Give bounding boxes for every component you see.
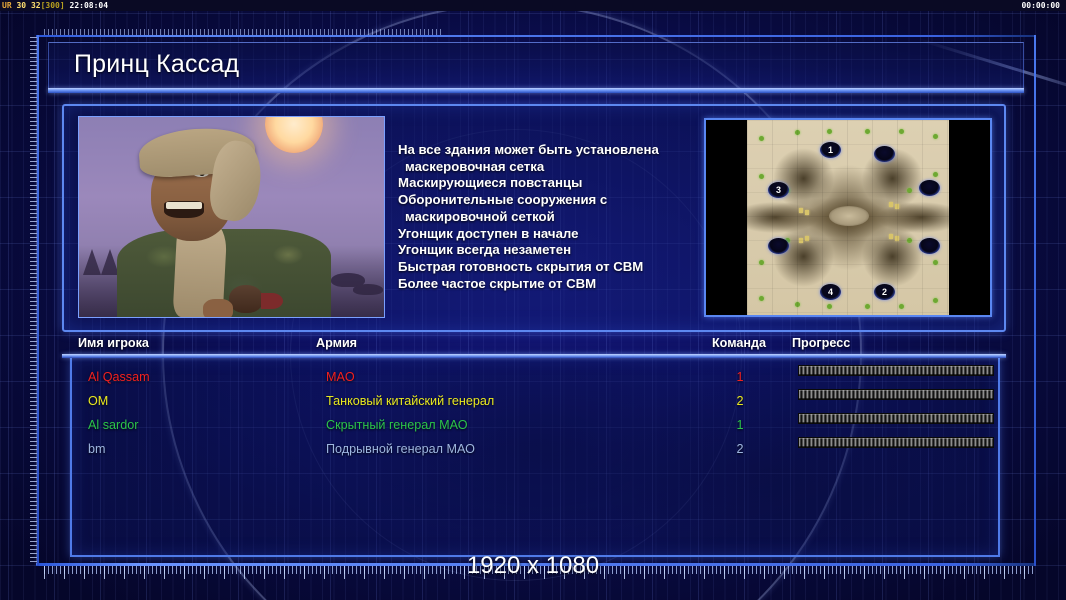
general-description: На все здания может быть установленамаск…	[398, 142, 698, 292]
player-progress	[798, 389, 994, 400]
minimap-supply-dock	[759, 260, 764, 265]
player-progress	[798, 413, 994, 424]
frame-value: 32	[31, 1, 41, 10]
minimap-supply-dock	[827, 304, 832, 309]
player-row[interactable]: Al QassamMAO1	[72, 365, 1002, 389]
description-line: Оборонительные сооружения с	[398, 192, 698, 209]
resolution-label: 1920 x 1080	[0, 552, 1066, 580]
minimap-center-feature	[829, 206, 869, 226]
player-row[interactable]: Al sardorСкрытный генерал МАО1	[72, 413, 1002, 437]
player-team: 2	[733, 389, 747, 413]
minimap-start-position-label: 2	[882, 288, 887, 297]
player-team: 1	[733, 365, 747, 389]
player-army: Подрывной генерал МАО	[326, 437, 475, 461]
minimap[interactable]: 1342	[704, 118, 992, 317]
player-army: MAO	[326, 365, 355, 389]
description-line: Быстрая готовность скрытия от СВМ	[398, 259, 698, 276]
player-team: 2	[733, 437, 747, 461]
minimap-start-position[interactable]	[919, 238, 940, 254]
description-line: Маскирующиеся повстанцы	[398, 175, 698, 192]
description-line: маскировочной сеткой	[398, 209, 698, 226]
minimap-start-position[interactable]: 4	[820, 284, 841, 300]
minimap-oil-derrick	[889, 202, 893, 207]
minimap-supply-dock	[933, 298, 938, 303]
minimap-start-position-label: 1	[828, 146, 833, 155]
frame-left-rule	[37, 35, 39, 566]
minimap-supply-dock	[907, 188, 912, 193]
player-name: bm	[88, 437, 106, 461]
minimap-supply-dock	[785, 188, 790, 193]
minimap-supply-dock	[759, 296, 764, 301]
progress-bar	[798, 437, 994, 448]
minimap-supply-dock	[907, 238, 912, 243]
minimap-supply-dock	[899, 304, 904, 309]
minimap-oil-derrick	[895, 236, 899, 241]
ruler-left	[30, 37, 37, 565]
player-name: OM	[88, 389, 108, 413]
column-header-team[interactable]: Команда	[712, 336, 766, 350]
minimap-oil-derrick	[799, 238, 803, 243]
minimap-start-position[interactable]	[919, 180, 940, 196]
column-header-name[interactable]: Имя игрока	[78, 336, 149, 350]
player-name: Al sardor	[88, 413, 138, 437]
portrait-mouth	[164, 201, 204, 218]
fps-value: 30	[16, 1, 26, 10]
clock-readout: 00:00:00	[1021, 0, 1060, 11]
minimap-oil-derrick	[895, 204, 899, 209]
minimap-supply-dock	[759, 174, 764, 179]
minimap-start-position[interactable]	[768, 238, 789, 254]
frame-top-rule	[36, 35, 1036, 37]
portrait-teapot	[229, 285, 263, 313]
minimap-supply-dock	[933, 172, 938, 177]
minimap-supply-dock	[933, 260, 938, 265]
minimap-start-position[interactable]: 2	[874, 284, 895, 300]
description-line: Более частое скрытие от СВМ	[398, 276, 698, 293]
minimap-supply-dock	[827, 129, 832, 134]
player-progress	[798, 437, 994, 448]
progress-bar	[798, 413, 994, 424]
player-list-header-rule	[62, 354, 1006, 358]
column-header-army[interactable]: Армия	[316, 336, 357, 350]
portrait-hand	[203, 299, 233, 318]
page-title: Принц Кассад	[74, 50, 239, 79]
player-progress	[798, 365, 994, 376]
ruler-top	[44, 29, 444, 35]
description-line: Угонщик доступен в начале	[398, 226, 698, 243]
minimap-supply-dock	[899, 129, 904, 134]
minimap-supply-dock	[795, 130, 800, 135]
minimap-supply-dock	[759, 136, 764, 141]
minimap-start-position-label: 3	[776, 186, 781, 195]
elapsed-time: 22:08:04	[70, 1, 109, 10]
title-underline	[48, 88, 1024, 93]
minimap-supply-dock	[785, 238, 790, 243]
player-list-panel: Al QassamMAO1OMТанковый китайский генера…	[70, 357, 1000, 557]
minimap-oil-derrick	[889, 234, 893, 239]
minimap-start-position[interactable]: 1	[820, 142, 841, 158]
description-line: Угонщик всегда незаметен	[398, 242, 698, 259]
player-name: Al Qassam	[88, 365, 150, 389]
portrait-teapot-spout	[261, 293, 283, 309]
minimap-supply-dock	[865, 304, 870, 309]
minimap-oil-derrick	[805, 236, 809, 241]
minimap-supply-dock	[795, 302, 800, 307]
minimap-start-position[interactable]	[874, 146, 895, 162]
player-team: 1	[733, 413, 747, 437]
column-header-progress[interactable]: Прогресс	[792, 336, 850, 350]
minimap-supply-dock	[933, 134, 938, 139]
minimap-oil-derrick	[799, 208, 803, 213]
general-portrait	[78, 116, 385, 318]
fps-readout: UR 30 32[300] 22:08:04	[2, 0, 108, 11]
player-army: Скрытный генерал МАО	[326, 413, 468, 437]
player-row[interactable]: OMТанковый китайский генерал2	[72, 389, 1002, 413]
minimap-start-position-label: 4	[828, 288, 833, 297]
player-army: Танковый китайский генерал	[326, 389, 494, 413]
minimap-oil-derrick	[805, 210, 809, 215]
minimap-start-position[interactable]: 3	[768, 182, 789, 198]
top-status-bar: UR 30 32[300] 22:08:04 00:00:00	[0, 0, 1066, 11]
minimap-supply-dock	[865, 129, 870, 134]
description-line: маскеровочная сетка	[398, 159, 698, 176]
fps-label: UR	[2, 1, 12, 10]
bracket-value: [300]	[41, 1, 65, 10]
player-row[interactable]: bmПодрывной генерал МАО2	[72, 437, 1002, 461]
progress-bar	[798, 365, 994, 376]
progress-bar	[798, 389, 994, 400]
description-line: На все здания может быть установлена	[398, 142, 698, 159]
frame-right-rule	[1034, 35, 1036, 566]
